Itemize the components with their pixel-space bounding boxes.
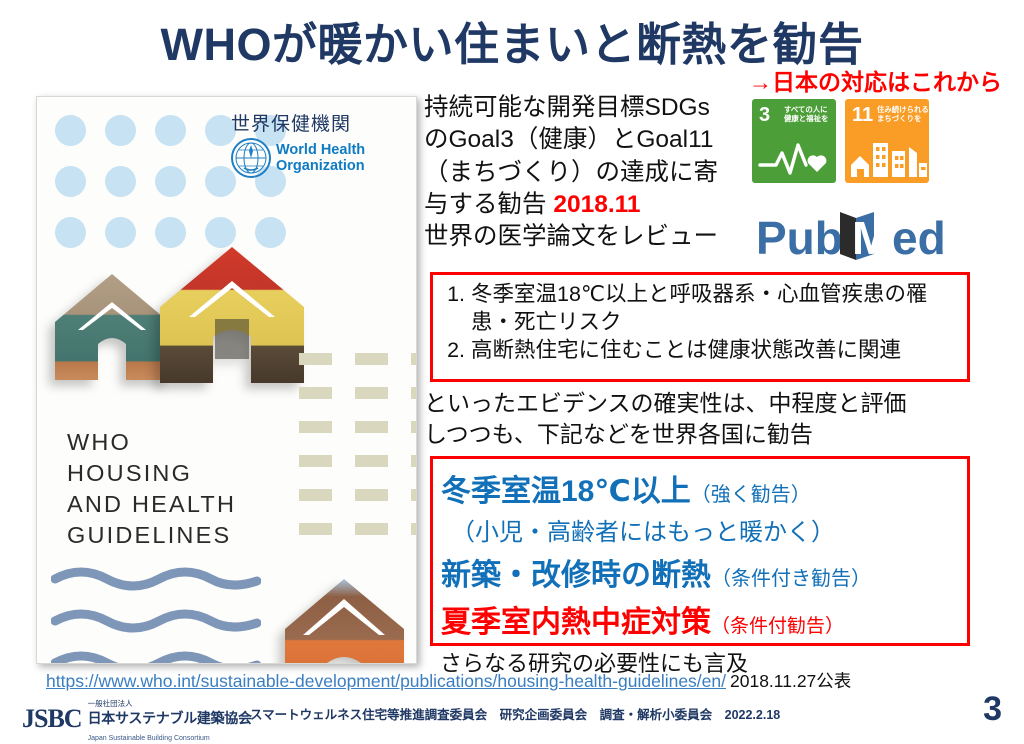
- cover-title-line-4: GUIDELINES: [67, 520, 236, 551]
- who-english-line2: Organization: [276, 158, 365, 174]
- intro-line-4: 与する勧告 2018.11: [424, 189, 764, 221]
- intro-line-4-prefix: 与する勧告: [424, 191, 553, 218]
- intro-line-1: 持続可能な開発目標SDGs: [424, 92, 764, 124]
- page-number: 3: [983, 690, 1002, 729]
- recommendation-1-note: （強く勧告）: [691, 484, 811, 506]
- sdg-11-caption-line1: 住み続けられる: [877, 105, 929, 114]
- who-emblem-icon: [231, 138, 271, 178]
- jsbc-name-jp: 日本サステナブル建築協会: [88, 710, 252, 726]
- intro-line-3: （まちづくり）の達成に寄: [424, 157, 764, 189]
- heartbeat-icon: [752, 137, 836, 179]
- recommendations-box: 冬季室温18℃以上（強く勧告） （小児・高齢者にはもっと暖かく） 新築・改修時の…: [430, 456, 970, 646]
- wave-pattern: [51, 565, 261, 664]
- slide-root: WHOが暖かい住まいと断熱を勧告 →日本の対応はこれから 世界保健機関: [0, 0, 1024, 731]
- intro-line-2: のGoal3（健康）とGoal11: [424, 124, 764, 156]
- recommendation-4-main: 夏季室内熱中症対策: [441, 606, 711, 639]
- house-thatch-icon: [53, 272, 171, 382]
- who-logo-block: 世界保健機関 World Health Organization: [231, 109, 406, 178]
- recommendation-3-main: 新築・改修時の断熱: [441, 559, 711, 592]
- sdg-11-caption: 住み続けられる まちづくりを: [877, 105, 929, 123]
- cover-title-text: WHO HOUSING AND HEALTH GUIDELINES: [67, 427, 236, 551]
- sdg-11-caption-line2: まちづくりを: [877, 114, 929, 123]
- recommendation-1: 冬季室温18℃以上（強く勧告）: [433, 466, 967, 510]
- who-english-name: World Health Organization: [276, 142, 365, 174]
- pubmed-text-m: M: [852, 212, 890, 264]
- recommendation-4-note: （条件付勧告）: [711, 616, 844, 637]
- cover-title-line-1: WHO: [67, 427, 236, 458]
- recommendation-1-main: 冬季室温18℃以上: [441, 475, 691, 508]
- sdg-icon-3: 3 すべての人に 健康と福祉を: [752, 99, 836, 183]
- finding-item-1: 冬季室温18℃以上と呼吸器系・心血管疾患の罹患・死亡リスク: [471, 281, 959, 337]
- sdg-11-number: 11: [852, 105, 873, 125]
- recommendation-2: （小児・高齢者にはもっと暖かく）: [433, 512, 967, 547]
- subtitle-note: →日本の対応はこれから: [749, 63, 1002, 97]
- source-published-date: 2018.11.27公表: [730, 671, 851, 691]
- jsbc-corp-type: 一般社団法人: [88, 699, 133, 708]
- source-url-link[interactable]: https://www.who.int/sustainable-developm…: [46, 671, 726, 691]
- intro-line-5: 世界の医学論文をレビュー: [424, 221, 764, 253]
- source-line: https://www.who.int/sustainable-developm…: [46, 668, 851, 693]
- recommendation-2-text: （小児・高齢者にはもっと暖かく）: [451, 519, 835, 546]
- house-photo-icon: [282, 577, 407, 664]
- intro-paragraph: 持続可能な開発目標SDGs のGoal3（健康）とGoal11 （まちづくり）の…: [424, 92, 764, 254]
- findings-box: 冬季室温18℃以上と呼吸器系・心血管疾患の罹患・死亡リスク 高断熱住宅に住むこと…: [430, 272, 970, 382]
- recommendation-4: 夏季室内熱中症対策（条件付勧告）: [433, 597, 967, 641]
- jsbc-logo-mark: JSBC: [22, 704, 82, 734]
- jsbc-org-name: 一般社団法人 日本サステナブル建築協会 Japan Sustainable Bu…: [88, 694, 252, 744]
- jsbc-name-en: Japan Sustainable Building Consortium: [88, 735, 210, 742]
- sdg-3-caption-line2: 健康と福祉を: [784, 114, 828, 123]
- who-report-cover-image: 世界保健機関 World Health Organization: [36, 96, 417, 664]
- tile-pattern: [299, 352, 417, 556]
- who-english-line1: World Health: [276, 142, 365, 158]
- cover-title-line-3: AND HEALTH: [67, 489, 236, 520]
- jsbc-logo: JSBC 一般社団法人 日本サステナブル建築協会 Japan Sustainab…: [22, 694, 252, 744]
- committee-note: スマートウェルネス住宅等推進調査委員会 研究企画委員会 調査・解析小委員会 20…: [250, 704, 780, 723]
- recommendation-3: 新築・改修時の断熱（条件付き勧告）: [433, 550, 967, 594]
- recommendation-3-note: （条件付き勧告）: [711, 568, 871, 590]
- sdg-icon-group: 3 すべての人に 健康と福祉を 11 住み続けられる まちづくりを: [752, 99, 929, 183]
- city-buildings-icon: [845, 133, 929, 179]
- finding-item-2: 高断熱住宅に住むことは健康状態改善に関連: [471, 337, 959, 365]
- house-yellow-icon: [157, 245, 307, 385]
- pubmed-logo: Pub M ed: [756, 208, 976, 266]
- slide-footer: JSBC 一般社団法人 日本サステナブル建築協会 Japan Sustainab…: [0, 694, 1024, 731]
- evidence-line-1: といったエビデンスの確実性は、中程度と評価: [424, 388, 984, 419]
- who-japanese-name: 世界保健機関: [231, 109, 406, 136]
- pubmed-text-right: ed: [892, 212, 946, 264]
- pubmed-text-left: Pub: [756, 212, 843, 264]
- sdg-3-caption-line1: すべての人に: [784, 105, 828, 114]
- publication-date-highlight: 2018.11: [553, 191, 640, 218]
- evidence-paragraph: といったエビデンスの確実性は、中程度と評価 しつつも、下記などを世界各国に勧告: [424, 388, 984, 450]
- sdg-icon-11: 11 住み続けられる まちづくりを: [845, 99, 929, 183]
- cover-title-line-2: HOUSING: [67, 458, 236, 489]
- evidence-line-2: しつつも、下記などを世界各国に勧告: [424, 419, 984, 450]
- sdg-3-caption: すべての人に 健康と福祉を: [784, 105, 828, 123]
